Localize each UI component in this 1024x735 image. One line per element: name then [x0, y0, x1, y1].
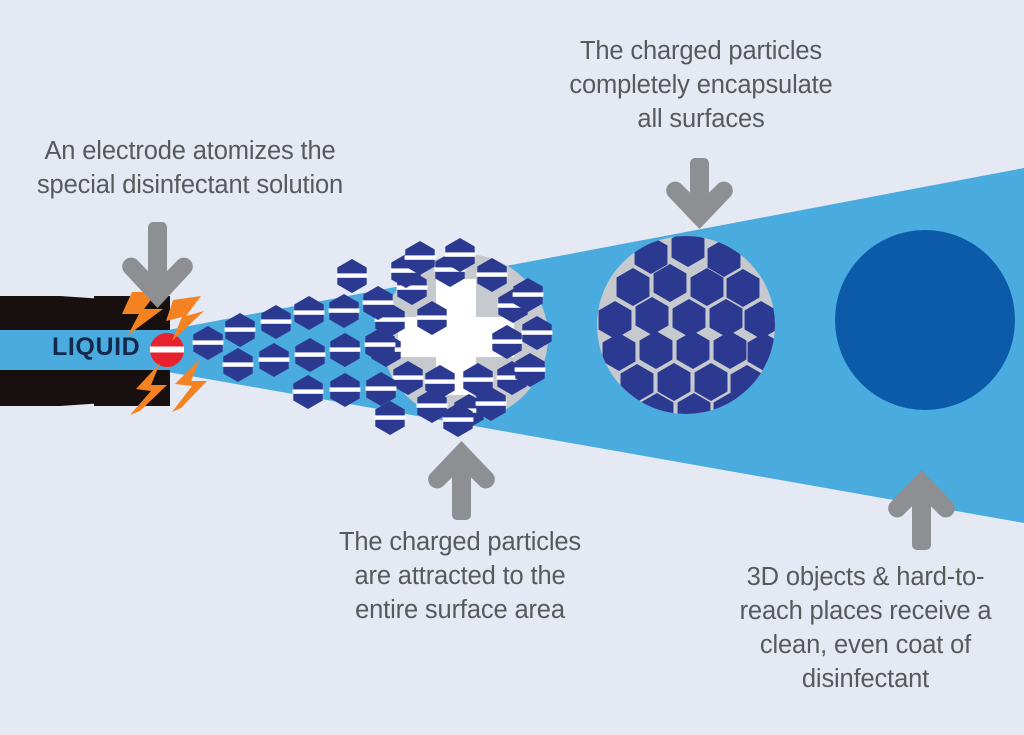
electrode-node: [150, 333, 184, 367]
surface-sphere-coated: [835, 230, 1015, 410]
caption-attracted: The charged particles are attracted to t…: [300, 525, 620, 627]
infographic-canvas: An electrode atomizes the special disinf…: [0, 0, 1024, 735]
caption-encapsulate: The charged particles completely encapsu…: [536, 34, 866, 136]
liquid-label: LIQUID: [52, 333, 140, 362]
caption-electrode: An electrode atomizes the special disinf…: [0, 134, 380, 202]
caption-3d-objects: 3D objects & hard-to- reach places recei…: [718, 560, 1013, 697]
